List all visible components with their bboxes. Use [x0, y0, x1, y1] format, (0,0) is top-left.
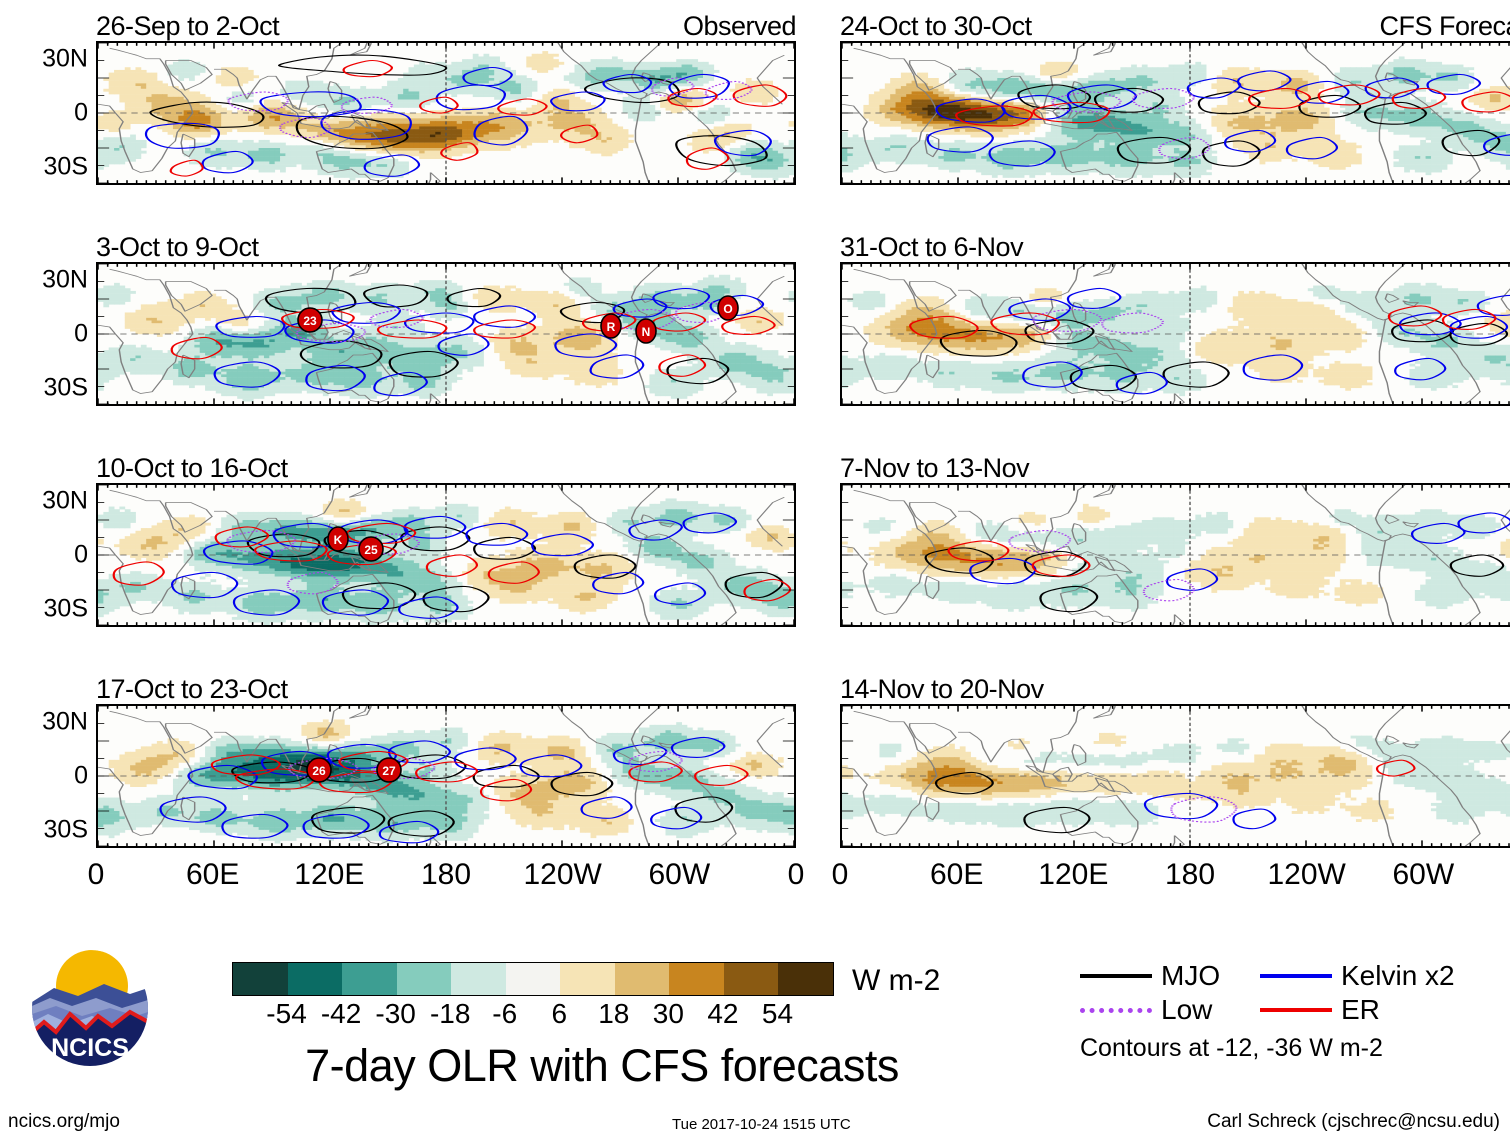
panel-title-fcst-week-2: 31-Oct to 6-Nov [840, 232, 1023, 263]
legend-item-er: ER [1260, 996, 1460, 1024]
colorbar-tick-54: 54 [762, 998, 793, 1030]
colorbar: -54-42-30-18-6618304254 W m-2 [232, 962, 834, 1032]
colorbar-tick--54: -54 [266, 998, 306, 1030]
map-fcst-week-4 [840, 704, 1510, 848]
map-obs-week-1 [96, 41, 796, 185]
panel-fcst-week-4: 14-Nov to 20-Nov 060E120E180120W60W0 [840, 704, 1510, 848]
xtick-0: 0 [832, 858, 849, 892]
legend-line-swatch [1080, 974, 1152, 978]
colorbar-tick-18: 18 [598, 998, 629, 1030]
colorbar-tick--18: -18 [430, 998, 470, 1030]
colorbar-swatch-3 [397, 963, 452, 995]
storm-marker-R: R [600, 313, 622, 339]
xtick-5: 60W [648, 858, 710, 892]
colorbar-swatch-0 [233, 963, 288, 995]
legend-label: ER [1341, 996, 1380, 1024]
storm-marker-27: 27 [376, 757, 402, 783]
legend-item-low: Low [1080, 996, 1260, 1024]
panel-title-obs-week-2: 3-Oct to 9-Oct [96, 232, 259, 263]
colorbar-swatch-4 [451, 963, 506, 995]
colorbar-units-label: W m-2 [852, 964, 940, 998]
legend-label: Kelvin x2 [1341, 962, 1455, 990]
xtick-2: 120E [294, 858, 364, 892]
panel-column-header-obs-week-1: Observed [683, 11, 796, 42]
footer-site-link[interactable]: ncics.org/mjo [8, 1111, 120, 1133]
map-fcst-week-3 [840, 483, 1510, 627]
figure-root: 26-Sep to 2-OctObserved 30N030S3-Oct to … [0, 0, 1510, 1137]
xaxis-obs-week-4: 060E120E180120W60W0 [96, 858, 796, 898]
ytick-30N: 30N [42, 266, 88, 295]
storm-marker-N: N [635, 318, 657, 344]
xtick-1: 60E [186, 858, 239, 892]
ytick-0: 0 [74, 99, 88, 128]
legend-label: MJO [1161, 962, 1220, 990]
colorbar-swatch-8 [669, 963, 724, 995]
colorbar-swatch-10 [778, 963, 833, 995]
footer-author[interactable]: Carl Schreck (cjschrec@ncsu.edu) [1207, 1111, 1500, 1133]
footer-timestamp: Tue 2017-10-24 1515 UTC [672, 1116, 851, 1133]
figure-title: 7-day OLR with CFS forecasts [232, 1040, 972, 1092]
panel-title-obs-week-3: 10-Oct to 16-Oct [96, 453, 288, 484]
map-fcst-week-2 [840, 262, 1510, 406]
panel-column-header-fcst-week-1: CFS Forecast [1379, 11, 1510, 42]
panel-fcst-week-2: 31-Oct to 6-Nov [840, 262, 1510, 406]
ncics-logo[interactable]: NCICS [26, 944, 154, 1072]
colorbar-tick--6: -6 [492, 998, 517, 1030]
panel-obs-week-1: 26-Sep to 2-OctObserved 30N030S [96, 41, 796, 185]
legend-line-swatch [1260, 974, 1332, 978]
xaxis-fcst-week-4: 060E120E180120W60W0 [840, 858, 1510, 898]
xtick-3: 180 [1165, 858, 1215, 892]
map-obs-week-3: K 25 [96, 483, 796, 627]
ytick-30N: 30N [42, 45, 88, 74]
xtick-2: 120E [1038, 858, 1108, 892]
map-obs-week-2: 23 R N O [96, 262, 796, 406]
legend-item-mjo: MJO [1080, 962, 1260, 990]
storm-marker-26: 26 [306, 757, 332, 783]
ytick-30N: 30N [42, 708, 88, 737]
legend-label: Low [1161, 996, 1212, 1024]
xtick-4: 120W [1267, 858, 1345, 892]
colorbar-swatch-1 [288, 963, 343, 995]
panel-title-fcst-week-1: 24-Oct to 30-Oct [840, 11, 1032, 42]
xtick-0: 0 [88, 858, 105, 892]
colorbar-tick-30: 30 [653, 998, 684, 1030]
colorbar-swatch-6 [560, 963, 615, 995]
colorbar-tick-42: 42 [707, 998, 738, 1030]
colorbar-tick-6: 6 [551, 998, 567, 1030]
storm-marker-K: K [327, 526, 349, 552]
ytick-30S: 30S [44, 374, 88, 403]
ytick-30S: 30S [44, 153, 88, 182]
storm-marker-O: O [717, 295, 739, 321]
panel-obs-week-3: 10-Oct to 16-Oct K 2530N030S [96, 483, 796, 627]
panel-title-obs-week-1: 26-Sep to 2-Oct [96, 11, 279, 42]
ytick-0: 0 [74, 541, 88, 570]
colorbar-tick--42: -42 [321, 998, 361, 1030]
panel-title-fcst-week-4: 14-Nov to 20-Nov [840, 674, 1044, 705]
legend-line-swatch [1260, 1008, 1332, 1012]
map-obs-week-4: 26 27 [96, 704, 796, 848]
colorbar-swatch-9 [724, 963, 779, 995]
colorbar-swatch-2 [342, 963, 397, 995]
legend-line-swatch [1080, 1008, 1152, 1013]
panel-title-obs-week-4: 17-Oct to 23-Oct [96, 674, 288, 705]
xtick-3: 180 [421, 858, 471, 892]
xtick-6: 0 [788, 858, 805, 892]
panel-obs-week-2: 3-Oct to 9-Oct 23 R N O30N030S [96, 262, 796, 406]
ytick-0: 0 [74, 320, 88, 349]
storm-marker-23: 23 [297, 307, 323, 333]
xtick-4: 120W [523, 858, 601, 892]
xtick-1: 60E [930, 858, 983, 892]
ytick-0: 0 [74, 762, 88, 791]
panel-fcst-week-1: 24-Oct to 30-OctCFS Forecast [840, 41, 1510, 185]
legend-contour-note: Contours at -12, -36 W m-2 [1080, 1034, 1480, 1063]
panel-fcst-week-3: 7-Nov to 13-Nov [840, 483, 1510, 627]
storm-marker-25: 25 [358, 536, 384, 562]
colorbar-swatch-7 [615, 963, 670, 995]
colorbar-tick--30: -30 [375, 998, 415, 1030]
legend-item-kelvin-x2: Kelvin x2 [1260, 962, 1460, 990]
logo-text: NCICS [51, 1034, 129, 1062]
ytick-30S: 30S [44, 595, 88, 624]
map-fcst-week-1 [840, 41, 1510, 185]
wave-legend: MJOKelvin x2LowER Contours at -12, -36 W… [1080, 962, 1480, 1063]
ytick-30N: 30N [42, 487, 88, 516]
ytick-30S: 30S [44, 816, 88, 845]
panel-obs-week-4: 17-Oct to 23-Oct 26 2730N030S060E120E180… [96, 704, 796, 848]
colorbar-swatches [232, 962, 834, 996]
colorbar-swatch-5 [506, 963, 561, 995]
panel-title-fcst-week-3: 7-Nov to 13-Nov [840, 453, 1029, 484]
colorbar-tick-labels: -54-42-30-18-6618304254 [232, 998, 832, 1032]
xtick-5: 60W [1392, 858, 1454, 892]
